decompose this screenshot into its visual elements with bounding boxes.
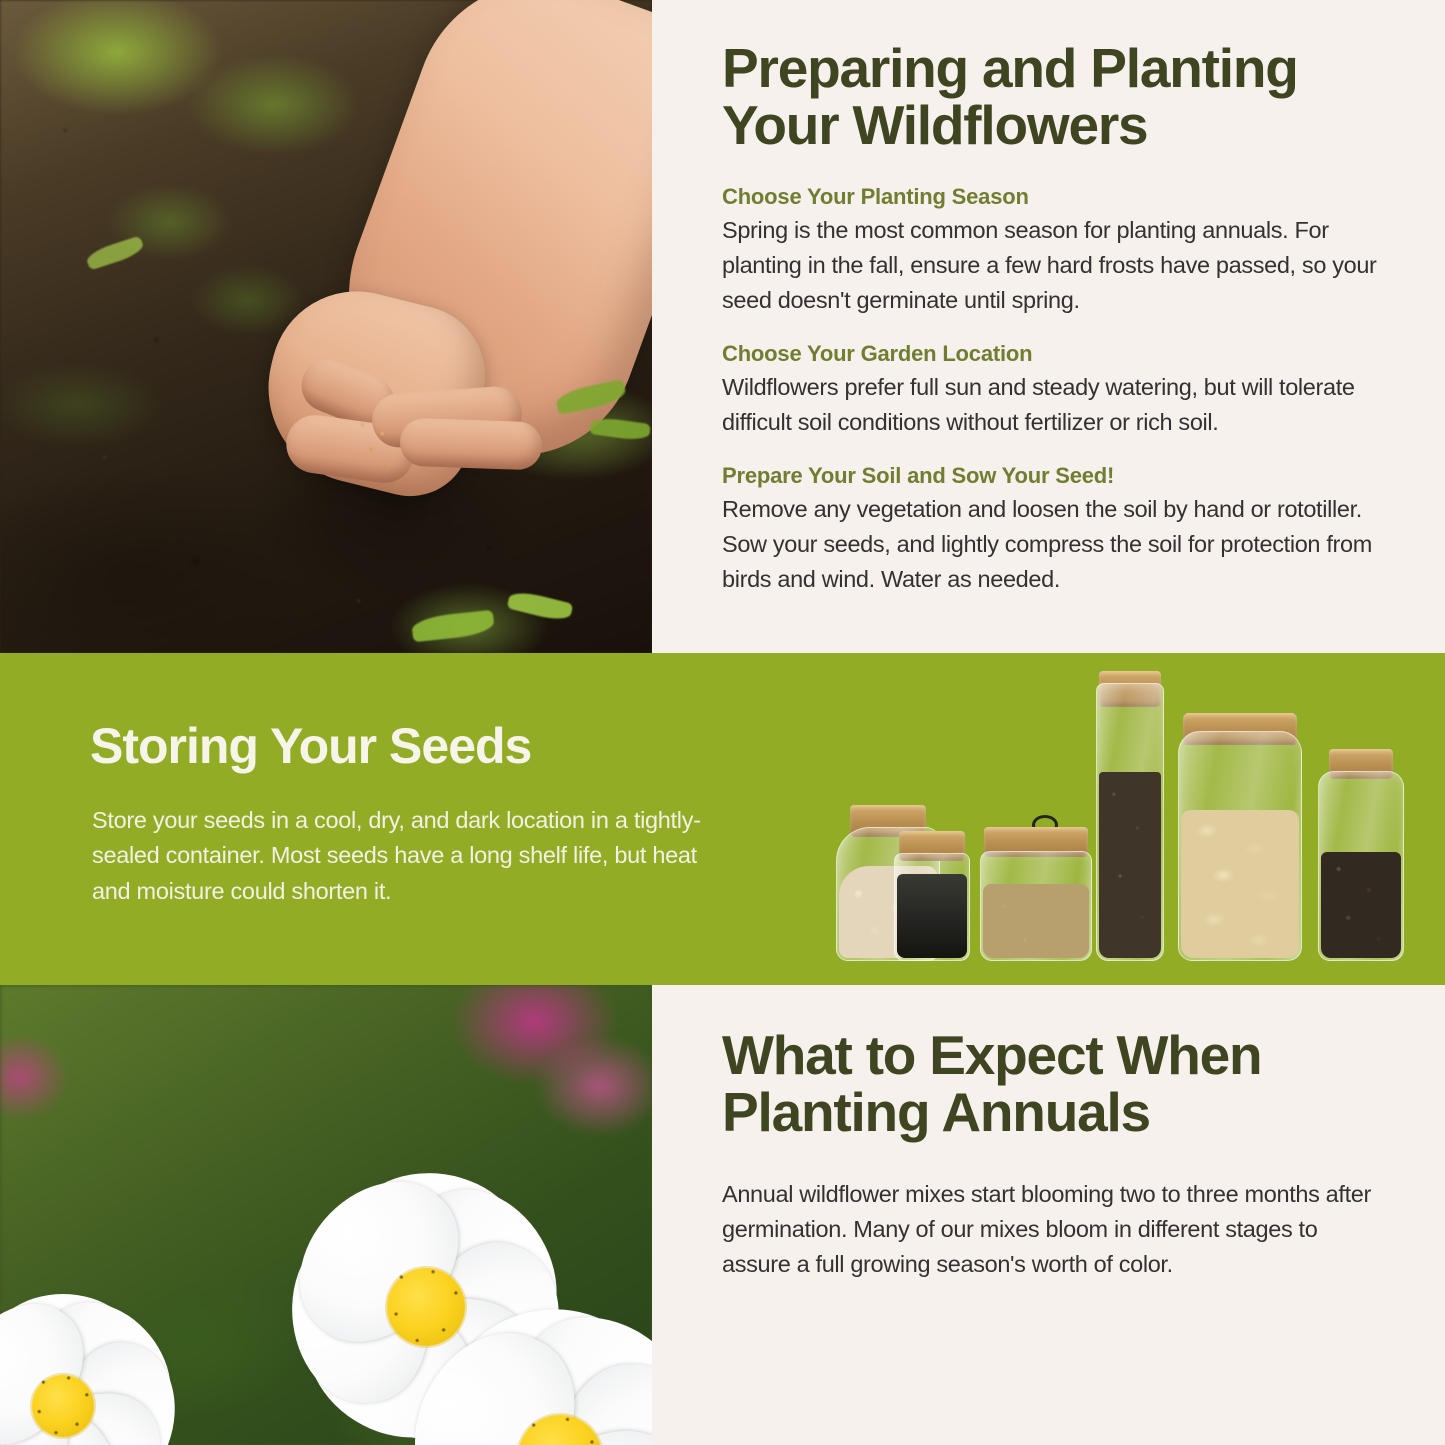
body-planting-season: Spring is the most common season for pla…	[722, 213, 1389, 318]
section-what-to-expect: What to Expect When Planting Annuals Ann…	[0, 985, 1445, 1445]
page-title: Preparing and Planting Your Wildflowers	[722, 40, 1389, 154]
flower-center	[32, 1375, 94, 1437]
bottom-text-panel: What to Expect When Planting Annuals Ann…	[652, 985, 1445, 1445]
cosmos-flower	[350, 1247, 652, 1445]
body-prepare-soil: Remove any vegetation and loosen the soi…	[722, 492, 1389, 597]
falling-seeds	[350, 412, 420, 476]
cosmos-flower	[0, 1251, 218, 1445]
seed-jar	[1178, 713, 1302, 961]
glass-body	[1178, 731, 1302, 961]
text-block-prepare-soil: Prepare Your Soil and Sow Your Seed! Rem…	[722, 463, 1389, 597]
glass-body	[980, 851, 1092, 961]
subheading-garden-location: Choose Your Garden Location	[722, 341, 1389, 367]
text-block-planting-season: Choose Your Planting Season Spring is th…	[722, 184, 1389, 318]
text-block-garden-location: Choose Your Garden Location Wildflowers …	[722, 341, 1389, 440]
seed-vial	[1096, 671, 1164, 961]
what-to-expect-body: Annual wildflower mixes start blooming t…	[722, 1177, 1389, 1282]
subheading-planting-season: Choose Your Planting Season	[722, 184, 1389, 210]
hand-sowing-seeds-photo	[0, 0, 652, 653]
seed-fill	[1181, 810, 1299, 958]
seed-fill	[983, 884, 1089, 958]
body-garden-location: Wildflowers prefer full sun and steady w…	[722, 370, 1389, 440]
section-storing-seeds: Storing Your Seeds Store your seeds in a…	[0, 653, 1445, 985]
seed-jar	[894, 831, 970, 961]
subheading-prepare-soil: Prepare Your Soil and Sow Your Seed!	[722, 463, 1389, 489]
seed-jars-photo	[830, 665, 1400, 983]
white-cosmos-photo	[0, 985, 652, 1445]
seed-fill	[897, 874, 967, 958]
section-preparing-planting: Preparing and Planting Your Wildflowers …	[0, 0, 1445, 653]
glass-body	[1318, 771, 1404, 961]
seed-fill	[1321, 852, 1401, 958]
storing-seeds-body: Store your seeds in a cool, dry, and dar…	[92, 803, 712, 909]
finger	[399, 418, 543, 471]
storing-seeds-title: Storing Your Seeds	[90, 721, 531, 771]
what-to-expect-title: What to Expect When Planting Annuals	[722, 1027, 1389, 1141]
seed-jar	[1318, 749, 1404, 961]
seed-fill	[1099, 772, 1161, 958]
glass-body	[894, 853, 970, 961]
flower-center	[518, 1415, 602, 1445]
glass-body	[1096, 683, 1164, 961]
top-text-panel: Preparing and Planting Your Wildflowers …	[652, 0, 1445, 653]
seed-jar	[980, 827, 1092, 961]
infographic-page: Preparing and Planting Your Wildflowers …	[0, 0, 1445, 1445]
